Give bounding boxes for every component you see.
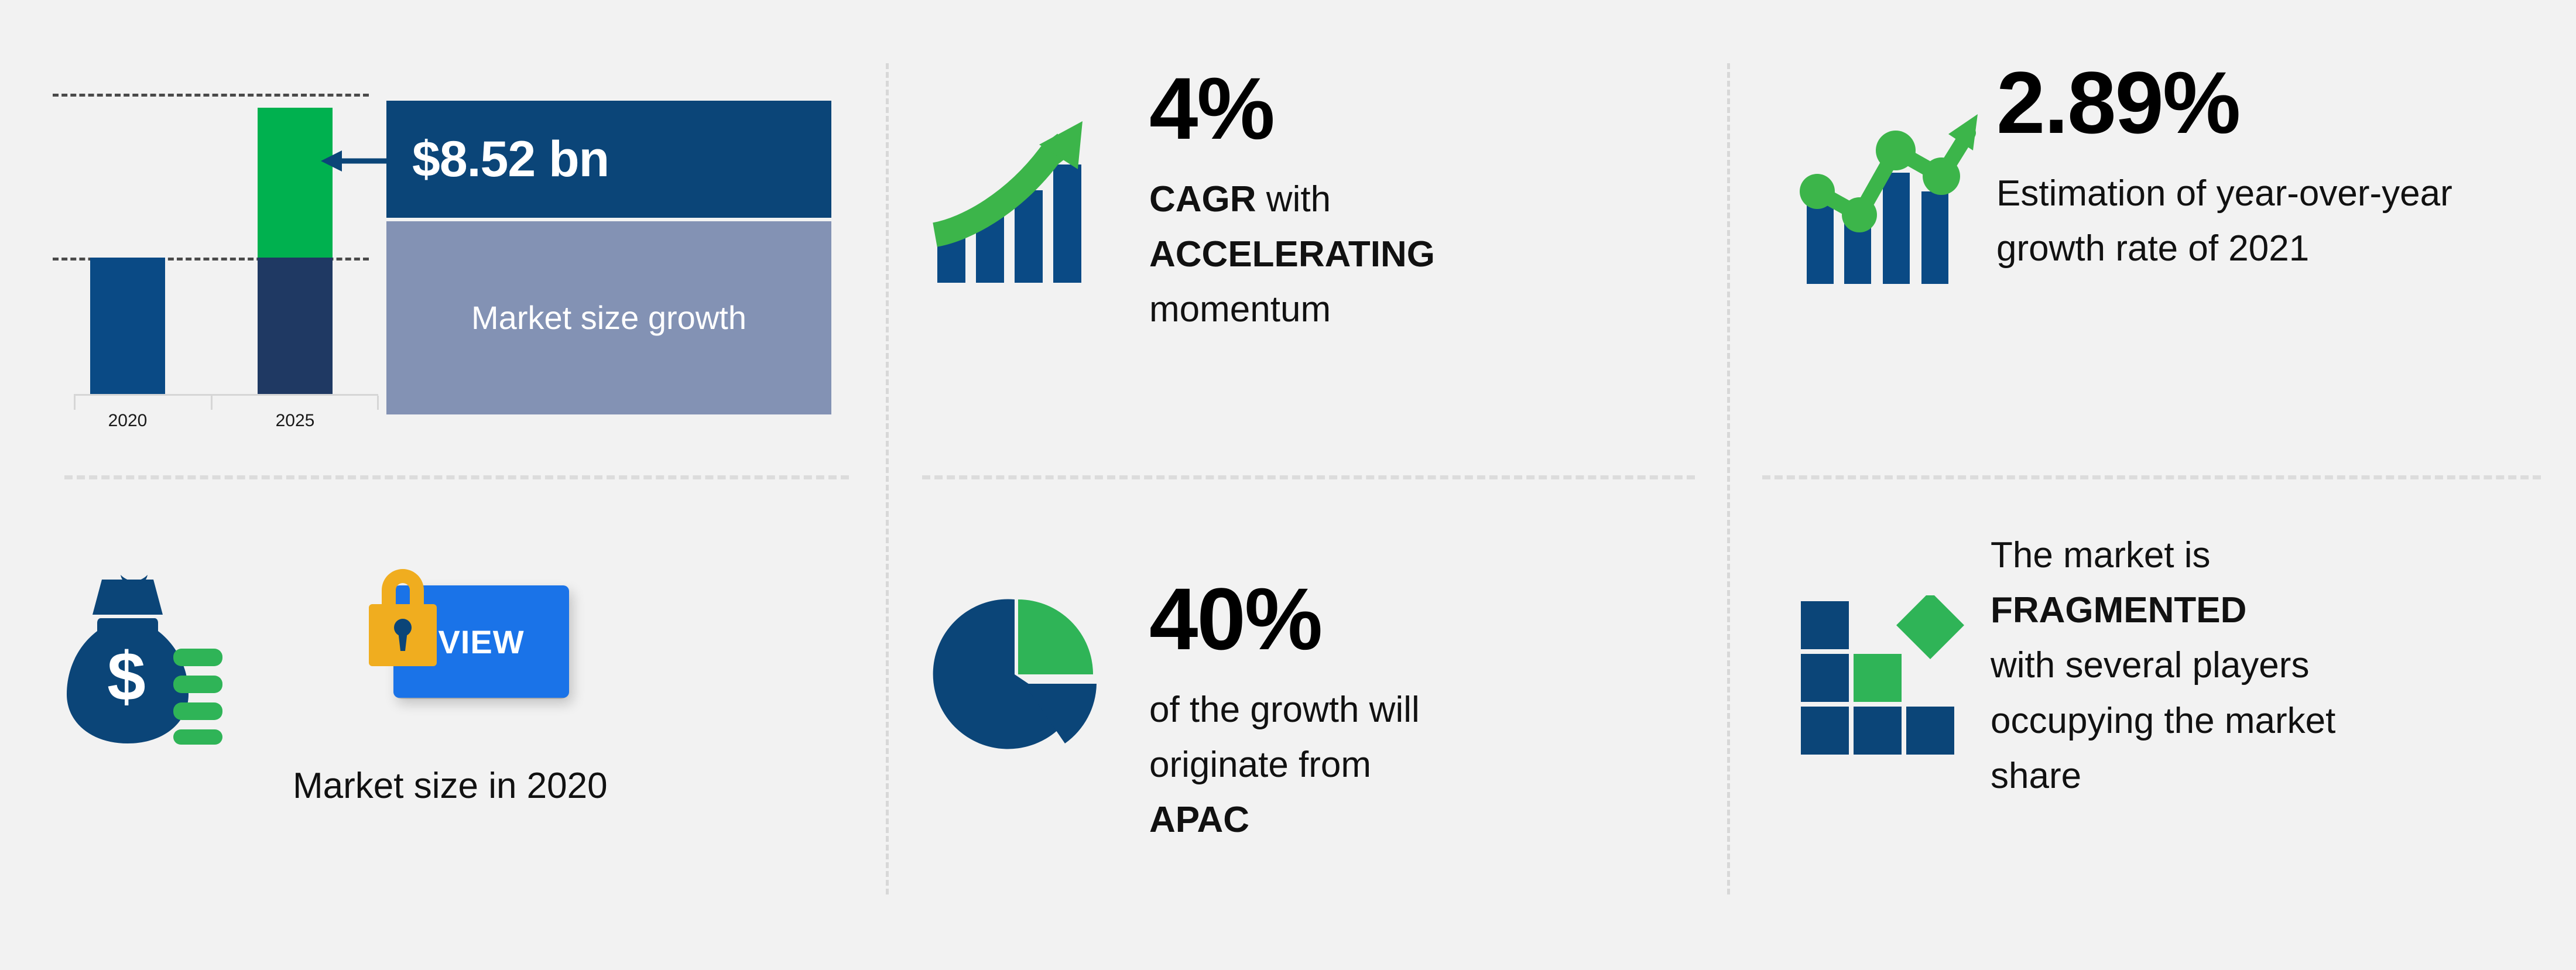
axis-tick-start [74,396,76,410]
fragmented-stat: The market is FRAGMENTED with several pl… [1991,528,2553,804]
bar-chart: 2020 2025 [41,82,392,421]
bar-2025-growth [258,108,333,258]
lock-icon [356,555,450,675]
pie-chart-icon [927,587,1102,765]
yoy-description: Estimation of year-over-year growth rate… [1996,166,2512,276]
line-chart-arrow-icon [1797,108,1985,287]
infographic-canvas: 2020 2025 $8.52 bn Market size growth [0,0,2576,970]
fragmented-line-3: with several players [1991,638,2506,693]
cagr-value: 4% [1149,64,1688,152]
fragmented-line-4: occupying the market [1991,694,2506,749]
apac-label: APAC [1149,800,1249,840]
yoy-value: 2.89% [1996,59,2558,146]
x-axis [74,394,378,396]
x-label-2025: 2025 [258,411,333,431]
yoy-stat: 2.89% Estimation of year-over-year growt… [1996,59,2558,276]
cagr-description: CAGR with ACCELERATING momentum [1149,172,1676,338]
market-size-callout: $8.52 bn Market size growth [386,101,831,414]
market-size-value: $8.52 bn [386,101,831,218]
fragmented-description: The market is FRAGMENTED with several pl… [1991,528,2506,804]
apac-line-2: originate from [1149,738,1676,793]
quadrant-apac: 40% of the growth will originate from AP… [886,475,1727,970]
x-label-2020: 2020 [90,411,165,431]
callout-arrow [316,149,398,173]
apac-stat: 40% of the growth will originate from AP… [1149,575,1688,848]
quadrant-yoy: 2.89% Estimation of year-over-year growt… [1727,0,2576,475]
reference-line-top [53,94,369,97]
apac-description: of the growth will originate from APAC [1149,683,1676,848]
axis-tick-middle [211,396,213,410]
growth-bar-arrow-icon [927,108,1114,299]
apac-value: 40% [1149,575,1688,663]
quadrant-market-size-2020: $ VIEW Market size in 2020 [0,475,878,970]
money-bag-icon: $ [64,575,222,748]
fragmented-line-1: The market is [1991,528,2506,583]
cagr-stat: 4% CAGR with ACCELERATING momentum [1149,64,1688,338]
quadrant-fragmented: The market is FRAGMENTED with several pl… [1727,475,2576,970]
fragmented-label: FRAGMENTED [1991,590,2246,630]
fragmented-line-5: share [1991,749,2506,804]
cagr-bold-label: CAGR [1149,179,1256,220]
cagr-momentum-label: momentum [1149,282,1676,337]
quadrant-cagr: 4% CAGR with ACCELERATING momentum [886,0,1727,475]
market-size-2020-caption: Market size in 2020 [293,765,608,807]
quadrant-market-size-growth: 2020 2025 $8.52 bn Market size growth [0,0,878,475]
view-button-label: VIEW [438,623,524,661]
cagr-accelerating-label: ACCELERATING [1149,234,1435,275]
bar-2020 [90,258,165,396]
fragmented-squares-icon [1797,595,1973,762]
cagr-with-label: with [1256,179,1331,220]
bar-2025-base [258,258,333,396]
apac-line-1: of the growth will [1149,683,1676,738]
axis-tick-end [377,396,379,410]
market-size-label: Market size growth [386,221,831,414]
svg-text:$: $ [107,638,146,715]
